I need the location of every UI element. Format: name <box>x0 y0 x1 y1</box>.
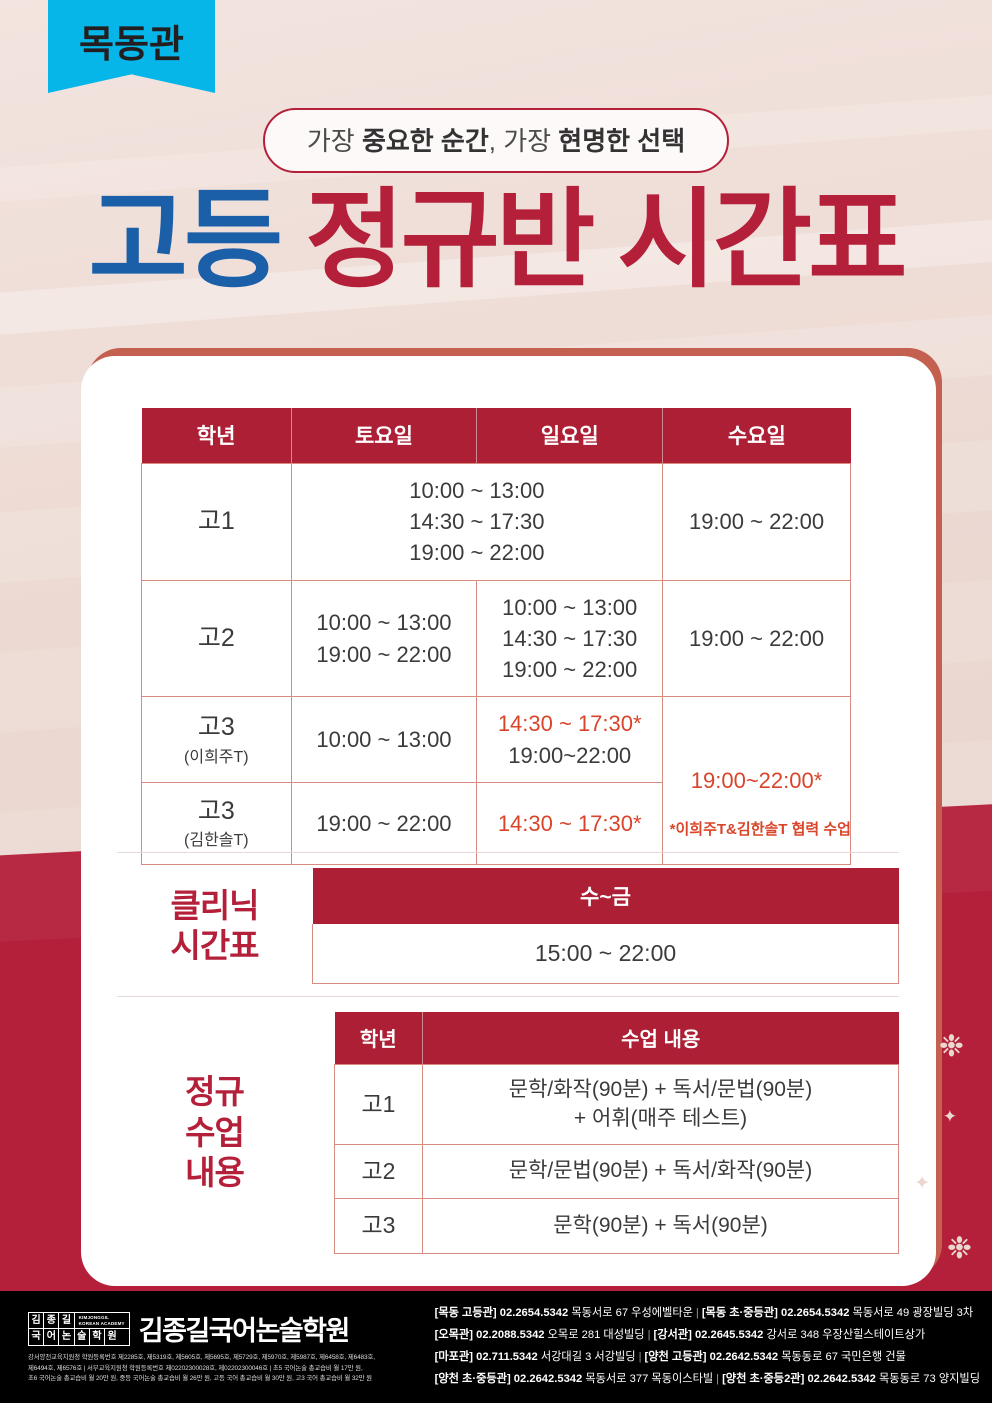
content-card: 학년 토요일 일요일 수요일 고1 10:00 ~ 13:0014:30 ~ 1… <box>81 356 936 1286</box>
cell-saturday: 10:00 ~ 13:00 <box>291 697 477 782</box>
branch-address: 목동동로 67 국민은행 건물 <box>781 1351 906 1363</box>
cell-grade: 고3(이희주T) <box>142 697 292 782</box>
curriculum-section-label: 정규수업내용 <box>117 1072 312 1193</box>
clinic-label-line1: 클리닉 <box>170 887 258 924</box>
logo-mark-icon: 김 종 길 KIMJONGGIL KOREAN ACADEMY 국 어 논 술 <box>28 1312 130 1346</box>
curriculum-cell-grade: 고1 <box>335 1065 423 1145</box>
tagline-pill: 가장 중요한 순간, 가장 현명한 선택 <box>263 108 729 173</box>
branch-ribbon-label: 목동관 <box>79 13 184 68</box>
curriculum-cell-content: 문학/문법(90분) + 독서/화작(90분) <box>423 1145 899 1199</box>
branch-address: 강서로 348 우장산힐스테이트상가 <box>766 1329 925 1341</box>
curriculum-section: 정규수업내용 학년 수업 내용 고1 문학/화작(90분) + 독서/문법(90… <box>117 1012 899 1254</box>
header-grade: 학년 <box>142 408 292 464</box>
logo-mark-cell: 어 <box>44 1329 59 1345</box>
curriculum-table: 학년 수업 내용 고1 문학/화작(90분) + 독서/문법(90분)+ 어휘(… <box>334 1012 899 1254</box>
table-row: 고2 10:00 ~ 13:0019:00 ~ 22:00 10:00 ~ 13… <box>142 580 851 697</box>
poster-root: 목동관 가장 중요한 순간, 가장 현명한 선택 고등 정규반 시간표 학년 토… <box>0 0 992 1403</box>
cell-wednesday: 19:00 ~ 22:00 <box>663 464 851 581</box>
tagline: 가장 중요한 순간, 가장 현명한 선택 <box>0 108 992 173</box>
branch-address: 목동서로 377 목동이스타빌 <box>585 1373 713 1385</box>
logo-mark-cell: 국 <box>29 1329 44 1345</box>
curriculum-label-line2: 수업 <box>185 1114 244 1151</box>
footnote: *이희주T&김한솔T 협력 수업 <box>141 818 851 839</box>
branch-phone: 02.2642.5342 <box>514 1373 582 1385</box>
branch-name: [양천 고등관] <box>645 1351 707 1363</box>
branch-separator: | <box>636 1351 645 1363</box>
branch-line: [목동 고등관] 02.2654.5342 목동서로 67 우성에벨타운|[목동… <box>435 1303 980 1325</box>
grade-label: 고3 <box>198 713 235 741</box>
logo-mark-cell: 술 <box>75 1329 90 1345</box>
curriculum-cell-content: 문학(90분) + 독서(90분) <box>423 1199 899 1253</box>
branch-separator: | <box>693 1307 702 1319</box>
logo-mark-english-line1: KIMJONGGIL <box>79 1315 110 1320</box>
snowflake-icon: ❉ <box>939 1032 964 1062</box>
curriculum-label-line1: 정규 <box>185 1073 244 1110</box>
schedule-table: 학년 토요일 일요일 수요일 고1 10:00 ~ 13:0014:30 ~ 1… <box>141 408 851 865</box>
logo-mark-row: 국 어 논 술 학 원 <box>29 1329 129 1345</box>
curriculum-header-grade: 학년 <box>335 1012 423 1065</box>
cell-sunday-red: 14:30 ~ 17:30* <box>498 711 642 736</box>
table-header-row: 학년 토요일 일요일 수요일 <box>142 408 851 464</box>
grade-label: 고2 <box>198 624 235 652</box>
branch-name: [목동 고등관] <box>435 1307 497 1319</box>
branch-phone: 02.711.5342 <box>476 1351 538 1363</box>
branch-name: [강서관] <box>653 1329 691 1341</box>
page-title-blue: 고등 <box>89 179 280 300</box>
table-row: 고3(이희주T) 10:00 ~ 13:00 14:30 ~ 17:30*19:… <box>142 697 851 782</box>
cell-saturday: 10:00 ~ 13:0019:00 ~ 22:00 <box>291 580 477 697</box>
footer-branch-list: [목동 고등관] 02.2654.5342 목동서로 67 우성에벨타운|[목동… <box>427 1303 992 1391</box>
table-row: 고1 문학/화작(90분) + 독서/문법(90분)+ 어휘(매주 테스트) <box>335 1065 899 1145</box>
branch-phone: 02.2088.5342 <box>476 1329 544 1341</box>
table-row: 15:00 ~ 22:00 <box>313 924 899 984</box>
tagline-part1: 가장 <box>307 126 362 156</box>
table-header-row: 학년 수업 내용 <box>335 1012 899 1065</box>
cell-weekend-merged: 10:00 ~ 13:0014:30 ~ 17:3019:00 ~ 22:00 <box>291 464 662 581</box>
header-saturday: 토요일 <box>291 408 477 464</box>
table-header-row: 수~금 <box>313 868 899 924</box>
footer: 김 종 길 KIMJONGGIL KOREAN ACADEMY 국 어 논 술 <box>0 1291 992 1403</box>
snowflake-icon: ❉ <box>947 1234 972 1264</box>
tagline-bold2: 현명한 선택 <box>558 126 685 156</box>
branch-phone: 02.2642.5342 <box>710 1351 778 1363</box>
clinic-header-days: 수~금 <box>313 868 899 924</box>
branch-name: [마포관] <box>435 1351 473 1363</box>
cell-sunday-black: 19:00~22:00 <box>508 743 631 768</box>
logo-mark-cell: 논 <box>59 1329 74 1345</box>
logo-mark-cell: 원 <box>105 1329 119 1345</box>
logo-mark-english: KIMJONGGIL KOREAN ACADEMY <box>75 1313 129 1329</box>
schedule-table-container: 학년 토요일 일요일 수요일 고1 10:00 ~ 13:0014:30 ~ 1… <box>141 408 851 865</box>
logo: 김 종 길 KIMJONGGIL KOREAN ACADEMY 국 어 논 술 <box>28 1309 427 1348</box>
tagline-bold1: 중요한 순간 <box>362 126 489 156</box>
branch-address: 목동서로 49 광장빌딩 3차 <box>853 1307 974 1319</box>
branch-name: [양천 초·중등2관] <box>722 1373 804 1385</box>
grade-teacher: (이희주T) <box>148 747 285 770</box>
logo-mark-cell: 김 <box>29 1313 44 1329</box>
clinic-section: 클리닉시간표 수~금 15:00 ~ 22:00 <box>117 868 899 984</box>
clinic-time: 15:00 ~ 22:00 <box>313 924 899 984</box>
branch-line: [오목관] 02.2088.5342 오목로 281 대성빌딩|[강서관] 02… <box>435 1325 980 1347</box>
curriculum-header-content: 수업 내용 <box>423 1012 899 1065</box>
sparkle-icon: ✦ <box>943 1108 957 1125</box>
clinic-section-label: 클리닉시간표 <box>117 886 312 967</box>
branch-address: 목동동로 73 양지빌딩 <box>879 1373 980 1385</box>
table-row: 고2 문학/문법(90분) + 독서/화작(90분) <box>335 1145 899 1199</box>
branch-name: [양천 초·중등관] <box>435 1373 511 1385</box>
page-title-red: 정규반 시간표 <box>305 179 903 300</box>
branch-phone: 02.2642.5342 <box>807 1373 875 1385</box>
branch-address: 서강대길 3 서강빌딩 <box>541 1351 636 1363</box>
curriculum-cell-content: 문학/화작(90분) + 독서/문법(90분)+ 어휘(매주 테스트) <box>423 1065 899 1145</box>
cell-grade: 고1 <box>142 464 292 581</box>
cell-wednesday-merged: 19:00~22:00* <box>663 697 851 865</box>
cell-sunday: 14:30 ~ 17:30*19:00~22:00 <box>477 697 663 782</box>
logo-mark-cell: 길 <box>59 1313 74 1329</box>
logo-mark-english-line2: KOREAN ACADEMY <box>79 1321 125 1326</box>
cell-grade: 고2 <box>142 580 292 697</box>
logo-wordmark: 김종길국어논술학원 <box>139 1309 349 1348</box>
grade-label: 고1 <box>198 507 235 535</box>
section-divider <box>117 852 899 853</box>
branch-name: [오목관] <box>435 1329 473 1341</box>
legal-line: 초6 국어논술 총교습비 월 20만 원, 중등 국어논술 총교습비 월 26만… <box>28 1374 427 1384</box>
cell-sunday: 10:00 ~ 13:0014:30 ~ 17:3019:00 ~ 22:00 <box>477 580 663 697</box>
curriculum-label-line3: 내용 <box>185 1154 244 1191</box>
header-sunday: 일요일 <box>477 408 663 464</box>
section-divider <box>117 996 899 997</box>
logo-mark-cell: 종 <box>44 1313 59 1329</box>
branch-phone: 02.2654.5342 <box>781 1307 849 1319</box>
branch-address: 목동서로 67 우성에벨타운 <box>571 1307 693 1319</box>
footer-brand-block: 김 종 길 KIMJONGGIL KOREAN ACADEMY 국 어 논 술 <box>0 1309 427 1384</box>
logo-mark-cell: 학 <box>90 1329 105 1345</box>
clinic-table: 수~금 15:00 ~ 22:00 <box>312 868 899 984</box>
sparkle-icon: ✦ <box>914 1174 930 1193</box>
header-wednesday: 수요일 <box>663 408 851 464</box>
logo-mark-row: 김 종 길 KIMJONGGIL KOREAN ACADEMY <box>29 1313 129 1330</box>
cell-wednesday: 19:00 ~ 22:00 <box>663 580 851 697</box>
legal-text: 강서양천교육지원청 학원등록번호 제2285호, 제5319호, 제5605호,… <box>28 1353 427 1384</box>
clinic-label-line2: 시간표 <box>170 927 258 964</box>
legal-line: 제6494호, 제6576호 | 서부교육지원청 학원등록번호 제0220230… <box>28 1364 427 1374</box>
branch-separator: | <box>713 1373 722 1385</box>
branch-address: 오목로 281 대성빌딩 <box>548 1329 645 1341</box>
branch-line: [양천 초·중등관] 02.2642.5342 목동서로 377 목동이스타빌|… <box>435 1369 980 1391</box>
branch-line: [마포관] 02.711.5342 서강대길 3 서강빌딩|[양천 고등관] 0… <box>435 1347 980 1369</box>
curriculum-cell-grade: 고3 <box>335 1199 423 1253</box>
page-title: 고등 정규반 시간표 <box>0 186 992 294</box>
branch-phone: 02.2645.5342 <box>695 1329 763 1341</box>
curriculum-cell-grade: 고2 <box>335 1145 423 1199</box>
branch-name: [목동 초·중등관] <box>702 1307 778 1319</box>
legal-line: 강서양천교육지원청 학원등록번호 제2285호, 제5319호, 제5605호,… <box>28 1353 427 1363</box>
branch-phone: 02.2654.5342 <box>500 1307 568 1319</box>
table-row: 고3 문학(90분) + 독서(90분) <box>335 1199 899 1253</box>
table-row: 고1 10:00 ~ 13:0014:30 ~ 17:3019:00 ~ 22:… <box>142 464 851 581</box>
tagline-part2: , 가장 <box>489 126 559 156</box>
